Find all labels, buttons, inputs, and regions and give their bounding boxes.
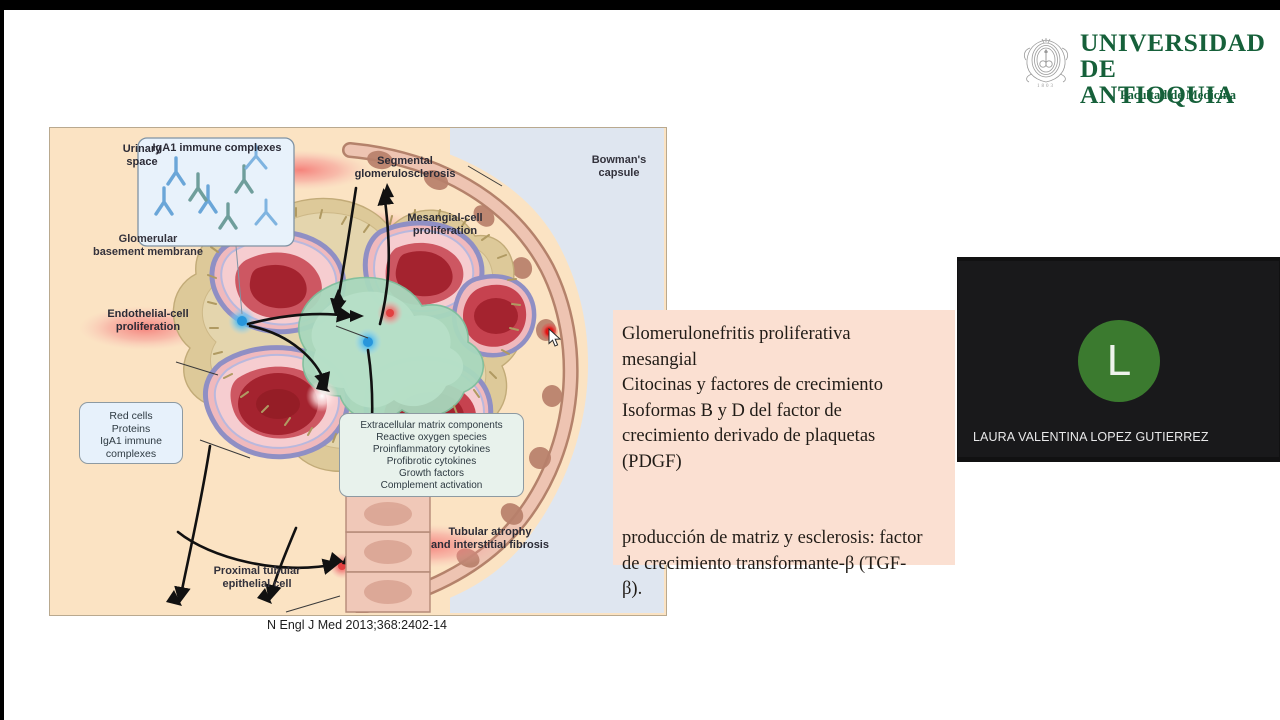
university-name-line1: UNIVERSIDAD: [1080, 30, 1276, 56]
seal-year: 1803: [1020, 84, 1072, 89]
participant-display-name: LAURA VALENTINA LOPEZ GUTIERREZ: [973, 430, 1273, 444]
avatar-initial: L: [1107, 339, 1131, 383]
label-iga1-box-title: IgA1 immune complexes: [142, 142, 292, 155]
callout-filtered-substances: Red cellsProteinsIgA1 immunecomplexes: [79, 402, 183, 464]
glomerulus-figure: Urinaryspace IgA1 immune complexes Glome…: [49, 127, 667, 616]
callout-mediators: Extracellular matrix componentsReactive …: [339, 413, 524, 497]
label-tubular-atrophy: Tubular atrophyand interstitial fibrosis: [400, 526, 580, 552]
label-segmental-glomerulosclerosis: Segmentalglomerulosclerosis: [330, 155, 480, 181]
participant-avatar: L: [1078, 320, 1160, 402]
label-glomerular-basement-membrane: Glomerularbasement membrane: [78, 233, 218, 259]
letterbox-bar-bottom-left: [0, 662, 4, 720]
mouse-arrow-cursor: [548, 328, 562, 348]
figure-citation: N Engl J Med 2013;368:2402-14: [49, 614, 665, 632]
slide-textbox: Glomerulonefritis proliferativa mesangia…: [613, 310, 955, 565]
university-logo: 1803 UNIVERSIDAD DE ANTIOQUIA Facultad d…: [1020, 32, 1272, 108]
label-proximal-tubular-epithelial-cell: Proximal tubularepithelial cell: [192, 565, 322, 591]
label-endothelial-cell-proliferation: Endothelial-cellproliferation: [88, 308, 208, 334]
label-bowmans-capsule: Bowman'scapsule: [574, 154, 664, 180]
letterbox-bar-top: [0, 0, 1280, 10]
faculty-name: Facultad de Medicina: [1080, 88, 1276, 103]
label-mesangial-cell-proliferation: Mesangial-cellproliferation: [380, 212, 510, 238]
